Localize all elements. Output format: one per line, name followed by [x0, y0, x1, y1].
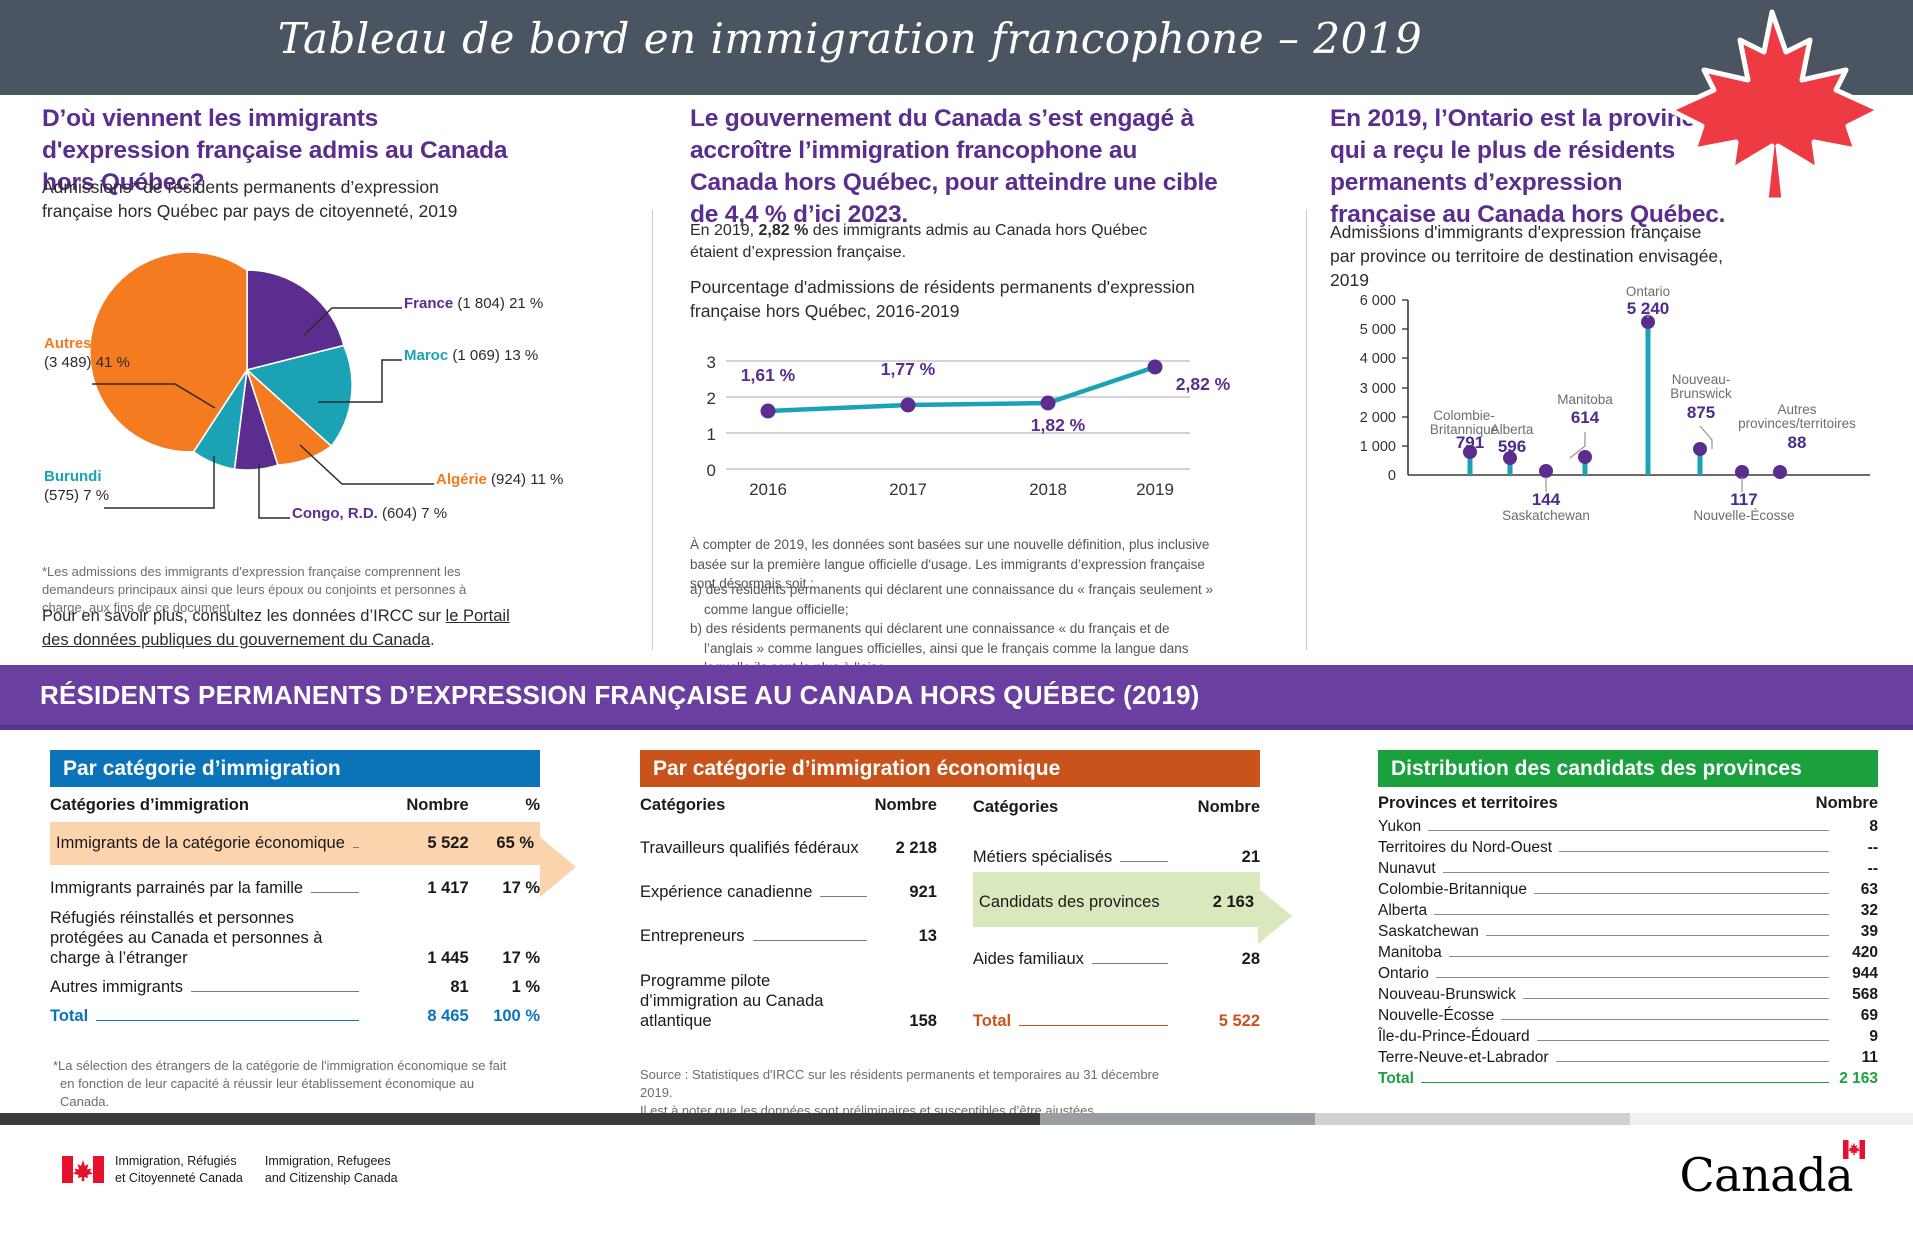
list-item: Nouveau-Brunswick568	[1378, 984, 1878, 1005]
stat-prefix: En 2019,	[690, 222, 759, 239]
infographic-page: Tableau de bord en immigration francopho…	[0, 0, 1913, 1238]
cell-text: Total	[50, 1007, 88, 1026]
col-header-categories-left: Catégories	[640, 787, 875, 822]
province-name: Terre-Neuve-et-Labrador	[1378, 1049, 1549, 1067]
row-nombre-economic-total: 5 522	[1176, 974, 1260, 1037]
column-divider-1	[652, 210, 653, 650]
ytick-4000: 4 000	[1360, 351, 1396, 367]
province-value: 63	[1836, 881, 1878, 899]
ytick-0: 0	[707, 461, 716, 480]
line-label-2016: 1,61 %	[741, 365, 796, 385]
column-divider-2	[1306, 210, 1307, 650]
label-nouvelle-ecosse: Nouvelle-Écosse	[1693, 508, 1794, 523]
section-band-title: RÉSIDENTS PERMANENTS D’EXPRESSION FRANÇA…	[40, 680, 1200, 711]
ircc-fr-line-1: Immigration, Réfugiés	[115, 1154, 237, 1168]
cell-text: Autres immigrants	[50, 978, 183, 997]
ircc-text-en: Immigration, Refugees and Citizenship Ca…	[265, 1153, 398, 1187]
row-pct-refugees: 17 %	[469, 903, 540, 973]
province-value: --	[1836, 839, 1878, 857]
cell-text: Immigrants de la catégorie économique	[56, 834, 345, 853]
ircc-text-fr: Immigration, Réfugiés et Citoyenneté Can…	[115, 1153, 243, 1187]
dot-leader	[1120, 861, 1167, 862]
dot-leader	[311, 892, 359, 893]
province-value: 32	[1836, 902, 1878, 920]
province-name: Ontario	[1378, 965, 1429, 983]
page-header: Tableau de bord en immigration francopho…	[0, 0, 1913, 95]
province-value: 11	[1836, 1049, 1878, 1067]
table-row-skilled-trades: Métiers spécialisés 21	[973, 826, 1260, 872]
table-economic-bar: Par catégorie d’immigration économique	[640, 750, 1260, 787]
table-row-atlantic-pilot: Programme pilote d’immigration au Canada…	[640, 951, 937, 1036]
canada-wordmark: Canada	[1679, 1148, 1853, 1202]
maple-leaf-icon	[1660, 4, 1890, 204]
ircc-logo: Immigration, Réfugiés et Citoyenneté Can…	[62, 1153, 420, 1187]
cell-text: Immigrants parrainés par la famille	[50, 879, 303, 898]
dot-leader	[1436, 977, 1829, 978]
list-item: Ontario944	[1378, 963, 1878, 984]
row-nombre-provincial-nominees: 2 163	[1176, 872, 1260, 927]
col-header-nombre-provinces: Nombre	[1816, 794, 1878, 813]
ircc-en-line-1: Immigration, Refugees	[265, 1154, 391, 1168]
cell-text: Aides familiaux	[973, 950, 1084, 969]
page-title: Tableau de bord en immigration francopho…	[0, 14, 1700, 63]
row-label-caregivers: Aides familiaux	[973, 927, 1176, 974]
ytick-3000: 3 000	[1360, 381, 1396, 397]
province-value: --	[1836, 860, 1878, 878]
dot-leader	[1534, 893, 1829, 894]
table-row-provincial-nominees: Candidats des provinces 2 163	[973, 872, 1260, 927]
panel-middle-note-a: a) des résidents permanents qui déclaren…	[690, 580, 1215, 619]
row-pct-economic: 65 %	[469, 822, 540, 865]
value-autres-provinces: 88	[1788, 433, 1807, 452]
row-nombre-family: 1 417	[367, 865, 469, 903]
stat-value: 2,82 %	[759, 222, 809, 239]
province-name: Colombie-Britannique	[1378, 881, 1527, 899]
list-item: Île-du-Prince-Édouard9	[1378, 1026, 1878, 1047]
marker-autres-provinces	[1773, 465, 1787, 479]
province-name: Nunavut	[1378, 860, 1436, 878]
row-pct-family: 17 %	[469, 865, 540, 903]
line-point-2018	[1041, 396, 1056, 411]
marker-nouveau-brunswick	[1693, 442, 1707, 456]
list-item: Yukon8	[1378, 816, 1878, 837]
cell-text: Réfugiés réinstallés et personnes protég…	[50, 908, 351, 968]
table-row-economic-total: Total 5 522	[973, 974, 1260, 1037]
cell-text: Programme pilote d’immigration au Canada…	[640, 971, 859, 1031]
label-nouveau-brunswick-1: Nouveau-	[1672, 372, 1731, 387]
row-nombre-atlantic-pilot: 158	[875, 951, 937, 1036]
table-row-entrepreneurs: Entrepreneurs 13	[640, 907, 937, 951]
list-item: Nunavut--	[1378, 858, 1878, 879]
table-economic-panel: Par catégorie d’immigration économique C…	[640, 750, 1260, 1120]
cell-text: Entrepreneurs	[640, 927, 745, 946]
label-colombie-britannique-1: Colombie-	[1433, 408, 1495, 423]
dot-leader	[1486, 935, 1829, 936]
row-nombre-skilled-trades: 21	[1176, 826, 1260, 872]
strip-segment-2	[1040, 1113, 1315, 1125]
pie-label-burundi: Burundi(575) 7 %	[44, 468, 109, 506]
dot-leader	[1537, 1040, 1829, 1041]
province-name: Île-du-Prince-Édouard	[1378, 1028, 1530, 1046]
province-total-value: 2 163	[1836, 1070, 1878, 1088]
province-name: Saskatchewan	[1378, 923, 1479, 941]
line-point-2017	[901, 398, 916, 413]
pie-chart: France (1 804) 21 % Maroc (1 069) 13 % A…	[42, 230, 632, 530]
xtick-2018: 2018	[1029, 480, 1067, 499]
value-ontario: 5 240	[1627, 299, 1670, 318]
pie-label-maroc: Maroc (1 069) 13 %	[404, 346, 538, 366]
pie-label-congo: Congo, R.D. (604) 7 %	[292, 504, 447, 524]
line-label-2019: 2,82 %	[1176, 374, 1231, 394]
label-saskatchewan: Saskatchewan	[1502, 508, 1590, 523]
cell-text: Total	[973, 1012, 1011, 1031]
dot-leader	[1421, 1082, 1829, 1083]
ytick-2000: 2 000	[1360, 410, 1396, 426]
row-label-family: Immigrants parrainés par la famille	[50, 865, 367, 903]
list-item: Nouvelle-Écosse69	[1378, 1005, 1878, 1026]
lollipop-chart-svg: 6 000 5 000 4 000 3 000 2 000 1 000 0	[1330, 280, 1890, 525]
leader-line-burundi	[104, 456, 214, 508]
ytick-2: 2	[707, 389, 716, 408]
panel-left-subheading: Admissions* de résidents permanents d’ex…	[42, 175, 462, 223]
col-header-nombre-right: Nombre	[1176, 787, 1260, 826]
footer-color-strip	[0, 1113, 1913, 1125]
lollipop-chart: 6 000 5 000 4 000 3 000 2 000 1 000 0	[1330, 280, 1890, 525]
line-chart: 3 2 1 0 1,61 % 1,77 % 1,82 % 2,82 % 2016	[690, 335, 1250, 520]
value-saskatchewan: 144	[1532, 490, 1561, 509]
strip-segment-4	[1630, 1113, 1913, 1125]
more-info-prefix: Pour en savoir plus, consultez les donné…	[42, 607, 446, 625]
value-nouvelle-ecosse: 117	[1730, 490, 1757, 509]
col-header-categories: Catégories d’immigration	[50, 787, 367, 822]
row-label-others: Autres immigrants	[50, 973, 367, 1002]
label-ontario: Ontario	[1626, 284, 1670, 299]
label-manitoba: Manitoba	[1557, 392, 1613, 407]
dot-leader	[1434, 914, 1829, 915]
line-point-2019	[1148, 360, 1163, 375]
row-nombre-refugees: 1 445	[367, 903, 469, 973]
province-value: 8	[1836, 818, 1878, 836]
orange-arrow-pointer	[540, 837, 576, 897]
marker-saskatchewan	[1539, 464, 1553, 478]
value-manitoba: 614	[1571, 408, 1600, 427]
row-label-economic-total: Total	[973, 974, 1176, 1037]
province-value: 39	[1836, 923, 1878, 941]
list-item: Manitoba420	[1378, 942, 1878, 963]
value-nouveau-brunswick: 875	[1687, 403, 1715, 422]
strip-segment-3	[1315, 1113, 1630, 1125]
table-category-bar: Par catégorie d’immigration	[50, 750, 540, 787]
cell-text: Travailleurs qualifiés fédéraux	[640, 839, 859, 858]
table-category-panel: Par catégorie d’immigration Catégories d…	[50, 750, 540, 1111]
table-row-skilled-workers: Travailleurs qualifiés fédéraux 2 218	[640, 822, 937, 863]
line-chart-title: Pourcentage d'admissions de résidents pe…	[690, 275, 1195, 323]
list-item-total: Total 2 163	[1378, 1068, 1878, 1089]
table-provinces-panel: Distribution des candidats des provinces…	[1378, 750, 1878, 1089]
province-value: 944	[1836, 965, 1878, 983]
row-nombre-economic: 5 522	[367, 822, 469, 865]
table-economic-right: Catégories Nombre Métiers spécialisés 21…	[973, 787, 1260, 1036]
table-provinces-bar: Distribution des candidats des provinces	[1378, 750, 1878, 787]
cell-text: Expérience canadienne	[640, 883, 812, 902]
row-pct-others: 1 %	[469, 973, 540, 1002]
dot-leader	[1449, 956, 1829, 957]
ircc-fr-line-2: et Citoyenneté Canada	[115, 1171, 243, 1185]
more-info-suffix: .	[430, 631, 435, 649]
ytick-1000: 1 000	[1360, 439, 1396, 455]
list-item: Alberta32	[1378, 900, 1878, 921]
province-total-label: Total	[1378, 1070, 1414, 1088]
panel-middle-heading: Le gouvernement du Canada s’est engagé à…	[690, 103, 1220, 230]
list-item: Territoires du Nord-Ouest--	[1378, 837, 1878, 858]
row-label-atlantic-pilot: Programme pilote d’immigration au Canada…	[640, 951, 875, 1036]
table-row-total: Total 8 465 100 %	[50, 1002, 540, 1031]
pie-label-algerie: Algérie (924) 11 %	[436, 470, 563, 490]
province-name: Manitoba	[1378, 944, 1442, 962]
line-series-path	[768, 367, 1155, 411]
top-section: D’où viennent les immigrants d'expressio…	[0, 95, 1913, 665]
list-item: Saskatchewan39	[1378, 921, 1878, 942]
table-row-canadian-experience: Expérience canadienne 921	[640, 863, 937, 907]
row-nombre-total: 8 465	[367, 1002, 469, 1031]
pie-label-autres: Autres(3 489) 41 %	[44, 335, 130, 373]
col-header-provinces: Provinces et territoires	[1378, 794, 1816, 813]
dot-leader	[1092, 963, 1168, 964]
row-label-skilled-workers: Travailleurs qualifiés fédéraux	[640, 822, 875, 863]
province-value: 420	[1836, 944, 1878, 962]
panel-target-2023: Le gouvernement du Canada s’est engagé à…	[690, 95, 1270, 665]
row-nombre-skilled-workers: 2 218	[875, 822, 937, 863]
table-provinces: Provinces et territoires Nombre Yukon8 T…	[1378, 787, 1878, 1089]
xtick-2016: 2016	[749, 480, 787, 499]
row-label-economic: Immigrants de la catégorie économique	[50, 822, 367, 865]
cell-text: Métiers spécialisés	[973, 848, 1112, 867]
label-nouveau-brunswick-2: Brunswick	[1670, 386, 1732, 401]
ircc-en-line-2: and Citizenship Canada	[265, 1171, 398, 1185]
table-header-row: Catégories Nombre	[973, 787, 1260, 826]
line-label-2018: 1,82 %	[1031, 415, 1086, 435]
list-item: Terre-Neuve-et-Labrador11	[1378, 1047, 1878, 1068]
row-label-skilled-trades: Métiers spécialisés	[973, 826, 1176, 872]
table-row-economic: Immigrants de la catégorie économique 5 …	[50, 822, 540, 865]
province-value: 69	[1836, 1007, 1878, 1025]
xtick-2017: 2017	[889, 480, 927, 499]
ytick-1: 1	[707, 425, 716, 444]
bottom-section: Par catégorie d’immigration Catégories d…	[0, 730, 1913, 1110]
list-item: Colombie-Britannique63	[1378, 879, 1878, 900]
dot-leader	[1559, 851, 1829, 852]
dot-leader	[96, 1020, 359, 1021]
row-label-canadian-experience: Expérience canadienne	[640, 863, 875, 907]
col-header-nombre-left: Nombre	[875, 787, 937, 822]
xtick-2019: 2019	[1136, 480, 1174, 499]
ytick-0: 0	[1388, 468, 1396, 484]
province-value: 9	[1836, 1028, 1878, 1046]
value-colombie-britannique: 791	[1456, 433, 1484, 452]
row-label-refugees: Réfugiés réinstallés et personnes protég…	[50, 903, 367, 973]
table-header-row: Catégories d’immigration Nombre %	[50, 787, 540, 822]
dot-leader	[1019, 1025, 1167, 1026]
pie-label-france: France (1 804) 21 %	[404, 294, 543, 314]
row-nombre-caregivers: 28	[1176, 927, 1260, 974]
canada-flag-icon	[62, 1156, 104, 1183]
dot-leader	[1556, 1061, 1829, 1062]
table-economic-left: Catégories Nombre Travailleurs qualifiés…	[640, 787, 937, 1036]
canada-wordmark-flag-icon	[1843, 1140, 1865, 1159]
panel-middle-stat: En 2019, 2,82 % des immigrants admis au …	[690, 220, 1165, 264]
marker-manitoba	[1578, 450, 1592, 464]
panel-left-more-info: Pour en savoir plus, consultez les donné…	[42, 605, 512, 653]
dot-leader	[191, 991, 359, 992]
table-header-row: Catégories Nombre	[640, 787, 937, 822]
label-alberta: Alberta	[1491, 422, 1534, 437]
dot-leader	[753, 940, 867, 941]
green-arrow-pointer	[1258, 888, 1292, 944]
value-alberta: 596	[1498, 437, 1526, 456]
province-name: Alberta	[1378, 902, 1427, 920]
row-nombre-entrepreneurs: 13	[875, 907, 937, 951]
row-label-provincial-nominees: Candidats des provinces	[973, 872, 1176, 927]
table-row-family: Immigrants parrainés par la famille 1 41…	[50, 865, 540, 903]
province-name: Nouvelle-Écosse	[1378, 1007, 1494, 1025]
leader-line-congo	[259, 464, 290, 518]
table-economic-source-1: Source : Statistiques d'IRCC sur les rés…	[640, 1066, 1160, 1102]
cell-text: Candidats des provinces	[979, 893, 1160, 912]
row-label-entrepreneurs: Entrepreneurs	[640, 907, 875, 951]
table-header-row: Provinces et territoires Nombre	[1378, 787, 1878, 816]
label-autres-provinces-2: provinces/territoires	[1738, 416, 1856, 431]
panel-origin-countries: D’où viennent les immigrants d'expressio…	[42, 95, 632, 665]
row-pct-total: 100 %	[469, 1002, 540, 1031]
table-row-others: Autres immigrants 81 1 %	[50, 973, 540, 1002]
col-header-categories-right: Catégories	[973, 787, 1176, 826]
ytick-3: 3	[707, 353, 716, 372]
dot-leader	[353, 847, 359, 848]
line-point-2016	[761, 404, 776, 419]
ytick-6000: 6 000	[1360, 293, 1396, 309]
col-header-pct: %	[469, 787, 540, 822]
row-label-total: Total	[50, 1002, 367, 1031]
dot-leader	[820, 896, 866, 897]
table-row-caregivers: Aides familiaux 28	[973, 927, 1260, 974]
province-value: 568	[1836, 986, 1878, 1004]
label-autres-provinces-1: Autres	[1777, 402, 1816, 417]
ytick-5000: 5 000	[1360, 322, 1396, 338]
row-nombre-canadian-experience: 921	[875, 863, 937, 907]
row-nombre-others: 81	[367, 973, 469, 1002]
province-name: Nouveau-Brunswick	[1378, 986, 1516, 1004]
dot-leader	[1443, 872, 1829, 873]
table-row-refugees: Réfugiés réinstallés et personnes protég…	[50, 903, 540, 973]
table-category: Catégories d’immigration Nombre % Immigr…	[50, 787, 540, 1031]
dot-leader	[1428, 830, 1829, 831]
dot-leader	[1523, 998, 1829, 999]
marker-nouvelle-ecosse	[1735, 465, 1749, 479]
dot-leader	[1501, 1019, 1829, 1020]
strip-segment-1	[0, 1113, 1040, 1125]
line-chart-svg: 3 2 1 0 1,61 % 1,77 % 1,82 % 2,82 % 2016	[690, 335, 1250, 520]
table-category-footnote: *La sélection des étrangers de la catégo…	[50, 1057, 510, 1111]
line-label-2017: 1,77 %	[881, 359, 936, 379]
province-name: Territoires du Nord-Ouest	[1378, 839, 1552, 857]
province-name: Yukon	[1378, 818, 1421, 836]
col-header-nombre: Nombre	[367, 787, 469, 822]
